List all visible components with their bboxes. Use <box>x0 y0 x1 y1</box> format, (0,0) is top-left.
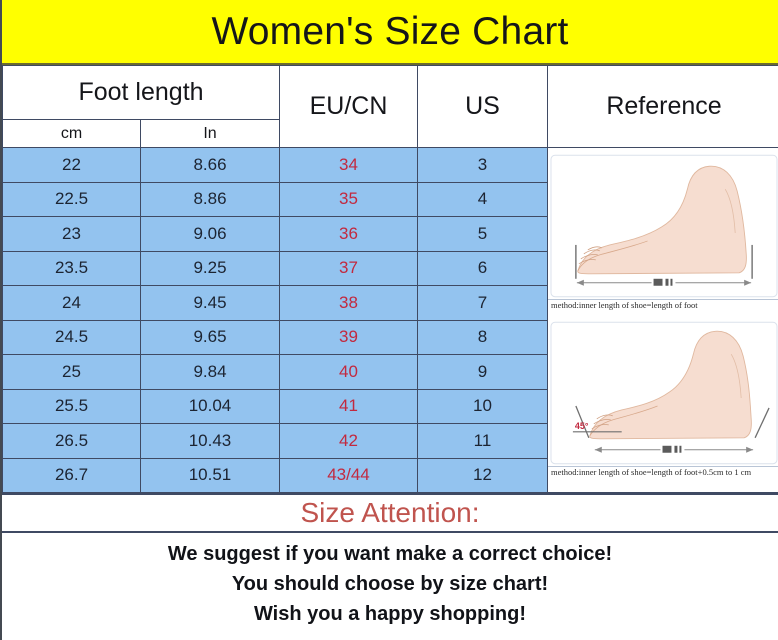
cell-cm: 26.5 <box>3 424 141 459</box>
cell-us: 9 <box>418 355 548 390</box>
note-line: You should choose by size chart! <box>2 571 778 597</box>
cell-eu: 35 <box>280 182 418 217</box>
cell-in: 9.65 <box>141 320 280 355</box>
cell-in: 9.84 <box>141 355 280 390</box>
table-row: 22 8.66 34 3 <box>3 148 778 183</box>
cell-in: 9.45 <box>141 286 280 321</box>
cell-cm: 24 <box>3 286 141 321</box>
header-us: US <box>418 66 548 148</box>
cell-eu: 39 <box>280 320 418 355</box>
cell-cm: 26.7 <box>3 458 141 493</box>
cell-us: 6 <box>418 251 548 286</box>
notes-block: We suggest if you want make a correct ch… <box>2 533 778 627</box>
cell-us: 11 <box>418 424 548 459</box>
cell-in: 8.66 <box>141 148 280 183</box>
reference-illustrations: method:inner length of shoe=length of fo… <box>548 153 778 488</box>
cell-us: 12 <box>418 458 548 493</box>
cell-eu: 40 <box>280 355 418 390</box>
cell-cm: 25 <box>3 355 141 390</box>
cell-in: 9.25 <box>141 251 280 286</box>
cell-cm: 25.5 <box>3 389 141 424</box>
table-header-row: Foot length EU/CN US Reference <box>3 66 778 120</box>
cell-eu: 37 <box>280 251 418 286</box>
cell-eu: 43/44 <box>280 458 418 493</box>
header-cm: cm <box>3 120 141 148</box>
cell-eu: 38 <box>280 286 418 321</box>
header-reference: Reference <box>548 66 778 148</box>
cell-eu: 41 <box>280 389 418 424</box>
cell-us: 8 <box>418 320 548 355</box>
reference-cell: method:inner length of shoe=length of fo… <box>548 148 778 493</box>
reference-block-two: 45° method:inner length of shoe=length o… <box>548 320 778 488</box>
header-foot-length: Foot length <box>3 66 280 120</box>
size-attention-row: Size Attention: <box>2 493 778 533</box>
reference-caption-two: method:inner length of shoe=length of fo… <box>548 466 778 478</box>
angle-label: 45° <box>575 421 589 431</box>
cell-cm: 24.5 <box>3 320 141 355</box>
cell-us: 3 <box>418 148 548 183</box>
cell-cm: 23.5 <box>3 251 141 286</box>
size-chart: Women's Size Chart Foot length EU/CN US … <box>0 0 778 640</box>
cell-cm: 23 <box>3 217 141 252</box>
cell-eu: 36 <box>280 217 418 252</box>
cell-us: 7 <box>418 286 548 321</box>
header-eu-cn: EU/CN <box>280 66 418 148</box>
cell-in: 9.06 <box>141 217 280 252</box>
title-banner: Women's Size Chart <box>2 0 778 65</box>
cell-in: 10.51 <box>141 458 280 493</box>
header-in: In <box>141 120 280 148</box>
page-title: Women's Size Chart <box>211 12 568 51</box>
cell-in: 10.43 <box>141 424 280 459</box>
cell-us: 10 <box>418 389 548 424</box>
cell-eu: 34 <box>280 148 418 183</box>
cell-us: 5 <box>418 217 548 252</box>
foot-side-view-icon <box>548 153 778 299</box>
reference-block-one: method:inner length of shoe=length of fo… <box>548 153 778 321</box>
cell-eu: 42 <box>280 424 418 459</box>
reference-caption-one: method:inner length of shoe=length of fo… <box>548 299 778 311</box>
cell-us: 4 <box>418 182 548 217</box>
note-line: Wish you a happy shopping! <box>2 601 778 627</box>
cell-cm: 22.5 <box>3 182 141 217</box>
cell-in: 8.86 <box>141 182 280 217</box>
cell-cm: 22 <box>3 148 141 183</box>
cell-in: 10.04 <box>141 389 280 424</box>
foot-angle-view-icon: 45° <box>548 320 778 466</box>
note-line: We suggest if you want make a correct ch… <box>2 541 778 567</box>
size-attention-heading: Size Attention: <box>300 497 479 529</box>
size-table: Foot length EU/CN US Reference cm In 22 … <box>2 65 778 493</box>
